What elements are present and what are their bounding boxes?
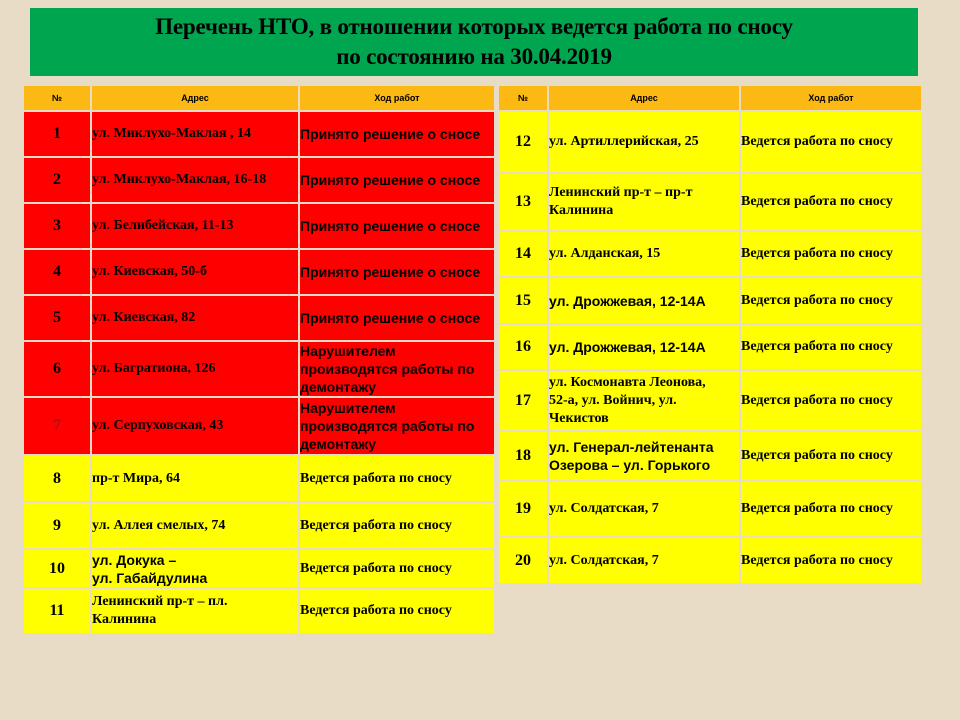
cell-work-status: Ведется работа по сносу [741,112,921,172]
slide-title-band: Перечень НТО, в отношении которых ведетс… [30,8,918,76]
cell-work-status: Ведется работа по сносу [741,174,921,230]
table-row: 2ул. Миклухо-Маклая, 16-18Принято решени… [24,158,494,202]
cell-number: 1 [24,112,90,156]
cell-work-status: Принято решение о сносе [300,158,494,202]
cell-number: 6 [24,342,90,396]
cell-address: ул. Космонавта Леонова, 52-а, ул. Войнич… [549,371,739,430]
table-row: 12ул. Артиллерийская, 25Ведется работа п… [499,112,921,172]
cell-address: ул. Серпуховская, 43 [92,398,298,454]
cell-work-status: Нарушителем производятся работы по демон… [300,342,494,396]
cell-address: ул. Киевская, 50-б [92,250,298,294]
table-row: 9ул. Аллея смелых, 74Ведется работа по с… [24,503,494,548]
cell-work-status: Принято решение о сносе [300,204,494,248]
table-left-header: № Адрес Ход работ [24,86,494,110]
cell-address: ул. Белибейская, 11-13 [92,204,298,248]
column-header-address: Адрес [549,86,739,110]
table-row: 20ул. Солдатская, 7Ведется работа по сно… [499,538,921,583]
cell-address: ул. Докука – ул. Габайдулина [92,550,298,587]
cell-number: 16 [499,325,547,369]
column-header-work: Ход работ [300,86,494,110]
cell-number: 9 [24,503,90,548]
cell-address: ул. Киевская, 82 [92,296,298,340]
column-header-number: № [499,86,547,110]
column-header-address: Адрес [92,86,298,110]
cell-number: 19 [499,482,547,536]
cell-number: 18 [499,432,547,480]
cell-work-status: Ведется работа по сносу [300,456,494,501]
table-row: 6ул. Багратиона, 126Нарушителем производ… [24,342,494,396]
table-row: 19ул. Солдатская, 7Ведется работа по сно… [499,482,921,536]
cell-address: ул. Дрожжевая, 12-14А [549,325,739,369]
table-row: 5ул. Киевская, 82Принято решение о сносе [24,296,494,340]
cell-address: пр-т Мира, 64 [92,456,298,501]
demolition-table-right: № Адрес Ход работ 12ул. Артиллерийская, … [497,84,923,585]
table-row: 17ул. Космонавта Леонова, 52-а, ул. Войн… [499,371,921,430]
cell-number: 2 [24,158,90,202]
cell-number: 3 [24,204,90,248]
table-row: 8пр-т Мира, 64Ведется работа по сносу [24,456,494,501]
cell-work-status: Ведется работа по сносу [741,538,921,583]
cell-address: Ленинский пр-т – пл. Калинина [92,589,298,633]
table-row: 3ул. Белибейская, 11-13Принято решение о… [24,204,494,248]
cell-address: ул. Солдатская, 7 [549,538,739,583]
cell-work-status: Ведется работа по сносу [300,503,494,548]
cell-address: ул. Алданская, 15 [549,232,739,276]
page-title-line-1: Перечень НТО, в отношении которых ведетс… [155,12,793,42]
cell-address: ул. Дрожжевая, 12-14А [549,278,739,323]
table-left-body: 1ул. Миклухо-Маклая , 14Принято решение … [24,112,494,633]
table-right-header: № Адрес Ход работ [499,86,921,110]
table-row: 14ул. Алданская, 15Ведется работа по сно… [499,232,921,276]
cell-work-status: Ведется работа по сносу [300,550,494,587]
cell-number: 14 [499,232,547,276]
table-header-row: № Адрес Ход работ [499,86,921,110]
demolition-table-left: № Адрес Ход работ 1ул. Миклухо-Маклая , … [22,84,496,635]
cell-work-status: Ведется работа по сносу [741,278,921,323]
table-row: 1ул. Миклухо-Маклая , 14Принято решение … [24,112,494,156]
cell-number: 7 [24,398,90,454]
table-header-row: № Адрес Ход работ [24,86,494,110]
cell-work-status: Ведется работа по сносу [741,325,921,369]
cell-address: ул. Солдатская, 7 [549,482,739,536]
cell-work-status: Ведется работа по сносу [741,482,921,536]
cell-address: ул. Багратиона, 126 [92,342,298,396]
cell-address: ул. Миклухо-Маклая , 14 [92,112,298,156]
table-row: 15ул. Дрожжевая, 12-14АВедется работа по… [499,278,921,323]
table-row: 16ул. Дрожжевая, 12-14АВедется работа по… [499,325,921,369]
cell-address: ул. Аллея смелых, 74 [92,503,298,548]
cell-number: 15 [499,278,547,323]
cell-number: 20 [499,538,547,583]
cell-number: 13 [499,174,547,230]
table-row: 7ул. Серпуховская, 43Нарушителем произво… [24,398,494,454]
cell-number: 17 [499,371,547,430]
cell-address: ул. Генерал-лейтенанта Озерова – ул. Гор… [549,432,739,480]
table-right-body: 12ул. Артиллерийская, 25Ведется работа п… [499,112,921,583]
page-title-line-2: по состоянию на 30.04.2019 [336,42,612,72]
table-row: 18ул. Генерал-лейтенанта Озерова – ул. Г… [499,432,921,480]
cell-number: 11 [24,589,90,633]
cell-number: 8 [24,456,90,501]
cell-number: 5 [24,296,90,340]
cell-address: Ленинский пр-т – пр-т Калинина [549,174,739,230]
cell-work-status: Ведется работа по сносу [741,432,921,480]
table-row: 11Ленинский пр-т – пл. КалининаВедется р… [24,589,494,633]
cell-number: 12 [499,112,547,172]
cell-work-status: Нарушителем производятся работы по демон… [300,398,494,454]
cell-work-status: Принято решение о сносе [300,296,494,340]
cell-work-status: Ведется работа по сносу [741,232,921,276]
column-header-work: Ход работ [741,86,921,110]
table-row: 10ул. Докука – ул. ГабайдулинаВедется ра… [24,550,494,587]
table-row: 13Ленинский пр-т – пр-т КалининаВедется … [499,174,921,230]
cell-number: 4 [24,250,90,294]
cell-number: 10 [24,550,90,587]
table-row: 4ул. Киевская, 50-бПринято решение о сно… [24,250,494,294]
cell-work-status: Ведется работа по сносу [741,371,921,430]
cell-address: ул. Миклухо-Маклая, 16-18 [92,158,298,202]
cell-work-status: Принято решение о сносе [300,250,494,294]
cell-work-status: Принято решение о сносе [300,112,494,156]
cell-work-status: Ведется работа по сносу [300,589,494,633]
cell-address: ул. Артиллерийская, 25 [549,112,739,172]
column-header-number: № [24,86,90,110]
